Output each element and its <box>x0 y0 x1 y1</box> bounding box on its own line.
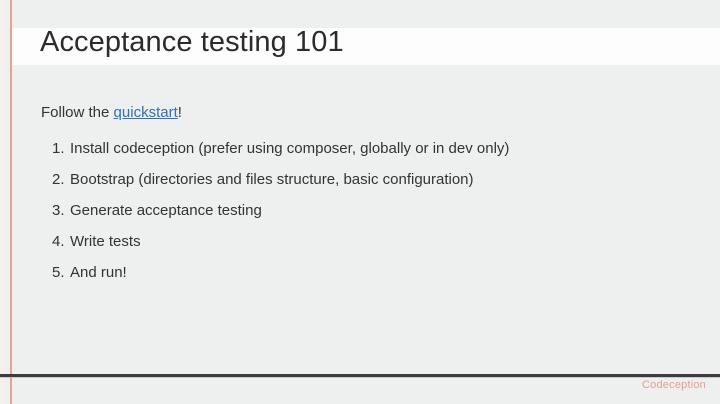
step-number: 2. <box>41 171 70 188</box>
list-item: 4. Write tests <box>41 233 681 264</box>
list-item: 1. Install codeception (prefer using com… <box>41 140 681 171</box>
footer-brand-label: Codeception <box>642 379 706 391</box>
slide-body: Follow the quickstart! 1. Install codece… <box>41 103 681 295</box>
step-text: Generate acceptance testing <box>70 202 681 219</box>
step-text: Bootstrap (directories and files structu… <box>70 171 681 188</box>
step-number: 3. <box>41 202 70 219</box>
intro-text-after-link: ! <box>178 104 182 121</box>
slide-title: Acceptance testing 101 <box>40 26 344 59</box>
intro-line: Follow the quickstart! <box>41 103 681 123</box>
list-item: 5. And run! <box>41 264 681 295</box>
presentation-slide: Acceptance testing 101 Follow the quicks… <box>0 0 720 404</box>
steps-list: 1. Install codeception (prefer using com… <box>41 140 681 295</box>
list-item: 2. Bootstrap (directories and files stru… <box>41 171 681 202</box>
step-number: 4. <box>41 233 70 250</box>
slide-left-frame-edge <box>0 0 4 404</box>
step-text: Write tests <box>70 233 681 250</box>
step-number: 5. <box>41 264 70 281</box>
quickstart-link[interactable]: quickstart <box>114 104 178 121</box>
footer-divider-shadow <box>0 377 720 378</box>
list-item: 3. Generate acceptance testing <box>41 202 681 233</box>
step-number: 1. <box>41 140 70 157</box>
intro-text-before-link: Follow the <box>41 104 114 121</box>
step-text: Install codeception (prefer using compos… <box>70 140 681 157</box>
step-text: And run! <box>70 264 681 281</box>
